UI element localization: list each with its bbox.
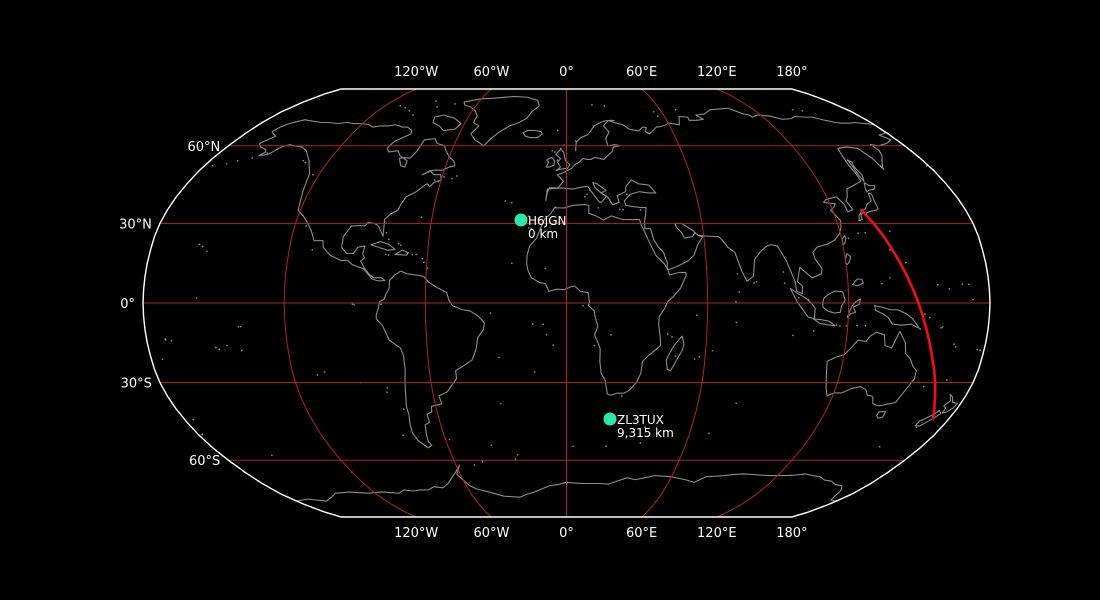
island-dot [423, 262, 425, 264]
island-dot [783, 271, 785, 273]
island-dot [675, 109, 677, 111]
island-dot [605, 445, 607, 447]
island-dot [302, 160, 304, 162]
island-dot [271, 454, 273, 456]
island-dot [412, 114, 414, 116]
station-distance-label: 9,315 km [617, 426, 674, 440]
island-dot [653, 111, 655, 113]
robinson-map-canvas[interactable]: H6JGN0 kmZL3TUX9,315 km 0°0°60°E60°E120°… [0, 0, 1100, 600]
island-dot [667, 333, 669, 335]
island-dot [972, 299, 974, 301]
island-dot [889, 277, 891, 279]
island-dot [386, 391, 388, 393]
island-dot [542, 323, 544, 325]
island-dot [498, 357, 500, 359]
island-dot [202, 246, 204, 248]
island-dot [736, 322, 738, 324]
lat-tick-left: 30°N [119, 217, 152, 232]
island-dot [639, 442, 641, 444]
island-dot [266, 152, 268, 154]
island-dot [324, 371, 326, 373]
island-dot [546, 334, 548, 336]
island-dot [919, 328, 921, 330]
island-dot [456, 175, 458, 177]
island-dot [474, 464, 476, 466]
island-dot [942, 326, 944, 328]
island-dot [865, 325, 867, 327]
island-dot [955, 346, 957, 348]
lon-tick-top: 60°W [473, 65, 509, 80]
station-dot[interactable] [515, 214, 528, 227]
island-dot [171, 340, 173, 342]
island-dot [694, 358, 696, 360]
island-dot [164, 338, 166, 340]
island-dot [881, 283, 883, 285]
island-dot [215, 347, 217, 349]
island-dot [511, 262, 513, 264]
lon-tick-bottom: 120°W [394, 526, 438, 541]
island-dot [443, 176, 445, 178]
island-dot [698, 356, 700, 358]
lon-tick-bottom: 60°W [473, 526, 509, 541]
island-dot [449, 439, 451, 441]
island-dot [738, 291, 740, 293]
island-dot [949, 288, 951, 290]
island-dot [813, 330, 815, 332]
island-dot [515, 458, 517, 460]
island-dot [545, 268, 547, 270]
island-dot [594, 345, 596, 347]
island-dot [388, 238, 390, 240]
island-dot [398, 243, 400, 245]
lon-tick-top: 0° [559, 65, 574, 80]
island-dot [554, 151, 556, 153]
lon-tick-bottom: 0° [559, 526, 574, 541]
island-dot [946, 379, 948, 381]
island-dot [226, 163, 228, 165]
lon-tick-top: 120°E [697, 65, 737, 80]
island-dot [619, 208, 621, 210]
island-dot [626, 193, 628, 195]
island-dot [352, 303, 354, 305]
island-dot [591, 104, 593, 106]
island-dot [603, 105, 605, 107]
island-dot [671, 336, 673, 338]
island-dot [422, 258, 424, 260]
island-dot [979, 349, 981, 351]
island-dot [864, 232, 866, 234]
island-dot [582, 305, 584, 307]
island-dot [192, 419, 194, 421]
island-dot [584, 196, 586, 198]
island-dot [856, 325, 858, 327]
island-dot [490, 444, 492, 446]
island-dot [937, 284, 939, 286]
island-dot [196, 297, 198, 299]
island-dot [490, 312, 492, 314]
island-dot [923, 386, 925, 388]
island-dot [929, 317, 931, 319]
island-dot [435, 100, 437, 102]
island-dot [905, 262, 907, 264]
island-dot [400, 244, 402, 246]
island-dot [610, 334, 612, 336]
station-callsign-label: ZL3TUX [617, 413, 664, 427]
island-dot [212, 165, 214, 167]
lon-tick-top: 120°W [394, 65, 438, 80]
map-figure: Robinson Projection PM51 to RE66HO (151°… [0, 0, 1100, 600]
island-dot [305, 225, 307, 227]
island-dot [696, 314, 698, 316]
island-dot [240, 326, 242, 328]
island-dot [940, 327, 942, 329]
island-dot [792, 335, 794, 337]
lon-tick-top: 180° [776, 65, 807, 80]
island-dot [517, 454, 519, 456]
island-dot [237, 160, 239, 162]
island-dot [399, 105, 401, 107]
island-dot [238, 326, 240, 328]
island-dot [534, 371, 536, 373]
island-dot [640, 209, 642, 211]
lon-tick-bottom: 60°E [626, 526, 657, 541]
island-dot [454, 103, 456, 105]
island-dot [848, 237, 850, 239]
island-dot [434, 179, 436, 181]
island-dot [735, 402, 737, 404]
island-dot [386, 387, 388, 389]
island-dot [736, 273, 738, 275]
island-dot [857, 232, 859, 234]
island-dot [712, 350, 714, 352]
island-dot [753, 282, 755, 284]
island-dot [427, 267, 429, 269]
island-dot [511, 202, 513, 204]
island-dot [924, 313, 926, 315]
island-dot [968, 283, 970, 285]
lon-tick-bottom: 120°E [697, 526, 737, 541]
island-dot [846, 325, 848, 327]
island-dot [836, 324, 838, 326]
island-dot [784, 282, 786, 284]
island-dot [597, 207, 599, 209]
island-dot [552, 344, 554, 346]
island-dot [226, 345, 228, 347]
island-dot [404, 107, 406, 109]
island-dot [206, 250, 208, 252]
island-dot [572, 445, 574, 447]
island-dot [621, 395, 623, 397]
island-dot [386, 232, 388, 234]
lat-tick-left: 60°N [188, 140, 221, 155]
island-dot [916, 426, 918, 428]
island-dot [532, 323, 534, 325]
station-dot[interactable] [604, 413, 617, 426]
map-background [0, 0, 1100, 600]
island-dot [953, 343, 955, 345]
island-dot [482, 461, 484, 463]
lat-tick-left: 30°S [121, 377, 152, 392]
island-dot [839, 325, 841, 327]
island-dot [801, 110, 803, 112]
island-dot [162, 358, 164, 360]
island-dot [403, 408, 405, 410]
island-dot [388, 254, 390, 256]
island-dot [251, 157, 253, 159]
island-dot [756, 281, 758, 283]
island-dot [415, 254, 417, 256]
island-dot [385, 253, 387, 255]
island-dot [879, 446, 881, 448]
island-dot [708, 433, 710, 435]
station-distance-label: 0 km [528, 227, 558, 241]
island-dot [199, 244, 201, 246]
island-dot [657, 115, 659, 117]
island-dot [317, 374, 319, 376]
lat-tick-left: 0° [120, 297, 135, 312]
island-dot [421, 216, 423, 218]
island-dot [500, 403, 502, 405]
island-dot [798, 297, 800, 299]
island-dot [408, 110, 410, 112]
island-dot [622, 209, 624, 211]
island-dot [412, 254, 414, 256]
island-dot [674, 355, 676, 357]
island-dot [551, 150, 553, 152]
island-dot [586, 193, 588, 195]
island-dot [889, 231, 891, 233]
lon-tick-bottom: 180° [776, 526, 807, 541]
island-dot [436, 106, 438, 108]
island-dot [305, 162, 307, 164]
lat-tick-left: 60°S [189, 454, 220, 469]
island-dot [451, 178, 453, 180]
station-callsign-label: H6JGN [528, 214, 566, 228]
island-dot [241, 350, 243, 352]
island-dot [201, 434, 203, 436]
island-dot [311, 249, 313, 251]
island-dot [735, 301, 737, 303]
island-dot [976, 349, 978, 351]
island-dot [312, 174, 314, 176]
island-dot [219, 349, 221, 351]
lon-tick-top: 60°E [626, 65, 657, 80]
island-dot [402, 434, 404, 436]
island-dot [505, 200, 507, 202]
island-dot [380, 303, 382, 305]
island-dot [557, 130, 559, 132]
island-dot [792, 109, 794, 111]
island-dot [353, 304, 355, 306]
island-dot [961, 283, 963, 285]
